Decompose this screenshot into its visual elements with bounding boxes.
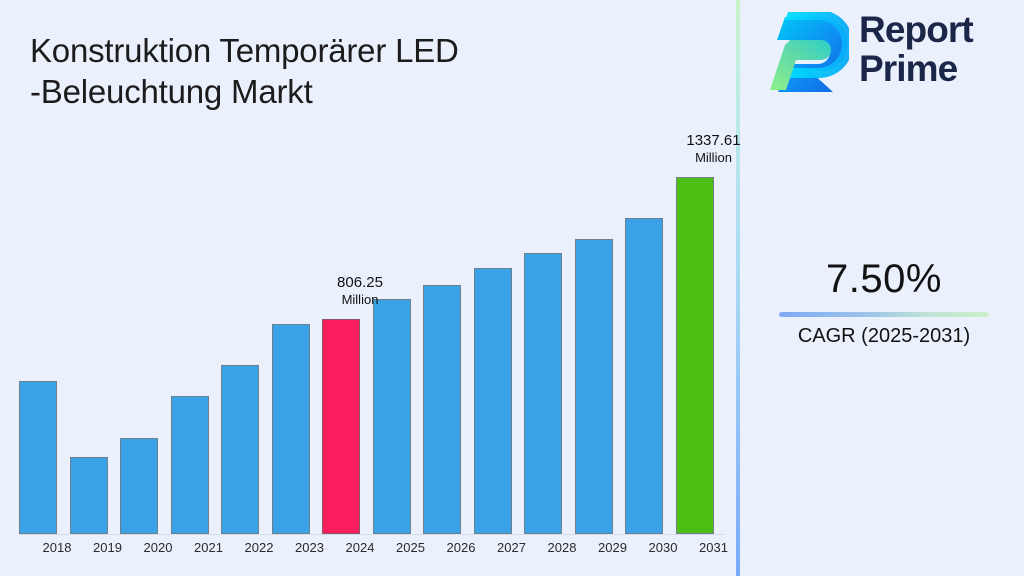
bar-2023[interactable] (272, 324, 310, 534)
bar-2024[interactable] (322, 319, 360, 534)
bar-2020[interactable] (120, 438, 158, 534)
bar-2027[interactable] (474, 268, 512, 534)
bar-2028[interactable] (524, 253, 562, 534)
callout-value: 806.25 (295, 274, 425, 292)
bar-2019[interactable] (70, 457, 108, 534)
report-prime-logo-icon (763, 12, 849, 96)
vertical-divider (736, 0, 740, 576)
x-axis-line (19, 534, 725, 535)
cagr-divider (779, 312, 989, 317)
x-label-2031: 2031 (684, 540, 744, 555)
cagr-label: CAGR (2025-2031) (752, 324, 1016, 348)
bar-2025[interactable] (373, 299, 411, 534)
callout-unit: Million (649, 150, 779, 166)
infographic-root: Konstruktion Temporärer LED -Beleuchtung… (0, 0, 1024, 576)
cagr-value: 7.50% (752, 255, 1016, 303)
bar-2026[interactable] (423, 285, 461, 534)
bar-2029[interactable] (575, 239, 613, 534)
bar-2030[interactable] (625, 218, 663, 534)
bar-chart: 2018201920202021202220232024202520262027… (0, 0, 736, 576)
cagr-block: 7.50% CAGR (2025-2031) (752, 255, 1016, 348)
bar-2031[interactable] (676, 177, 714, 534)
callout-value: 1337.61 (649, 132, 779, 150)
bar-2021[interactable] (171, 396, 209, 534)
brand-name: Report Prime (859, 10, 973, 88)
callout-2031: 1337.61Million (649, 132, 779, 166)
bar-2018[interactable] (19, 381, 57, 534)
brand-logo: Report Prime (763, 8, 1013, 100)
bar-2022[interactable] (221, 365, 259, 534)
